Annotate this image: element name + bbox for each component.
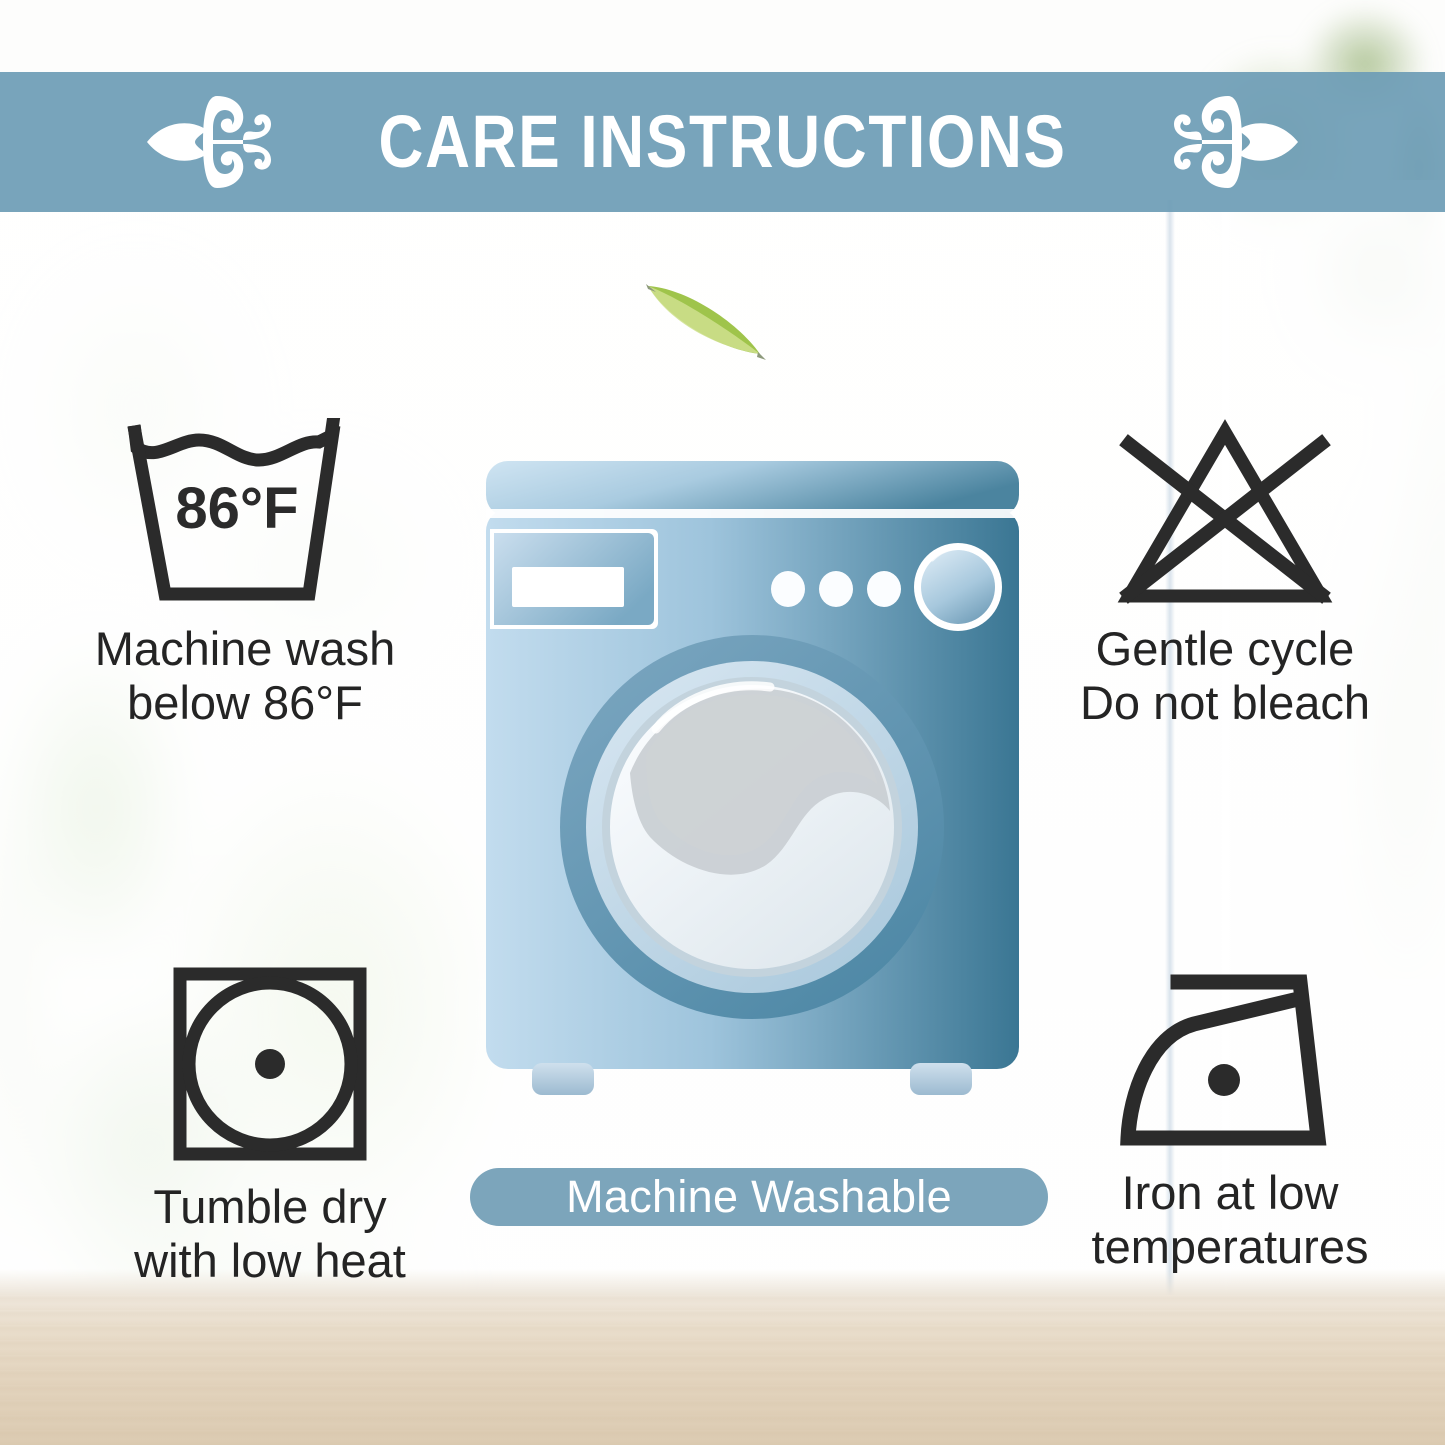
care-icon-machine-wash: 86°F Machine wash below 86°F (30, 418, 460, 729)
floating-leaf-icon (640, 272, 770, 362)
wash-temperature-label: 86°F (175, 476, 298, 541)
iron-icon (1104, 962, 1356, 1152)
control-dial (914, 543, 1002, 631)
wooden-table-surface (0, 1295, 1445, 1445)
care-icon-caption: Iron at low temperatures (1092, 1166, 1369, 1273)
wash-tub-icon: 86°F (119, 418, 371, 608)
care-icon-tumble-dry: Tumble dry with low heat (60, 962, 480, 1287)
care-icon-caption: Machine wash below 86°F (95, 622, 395, 729)
indicator-lights (771, 571, 901, 607)
heat-level-dot (255, 1049, 285, 1079)
care-icon-caption: Tumble dry with low heat (134, 1180, 406, 1287)
fleur-de-lis-icon (145, 88, 273, 196)
page-title: CARE INSTRUCTIONS (378, 105, 1066, 179)
detergent-drawer (490, 529, 658, 629)
fleur-de-lis-icon (1172, 88, 1300, 196)
washer-door (560, 635, 944, 1019)
heat-level-dot (1208, 1064, 1240, 1096)
care-icon-iron: Iron at low temperatures (1020, 962, 1440, 1273)
washing-machine-illustration (480, 455, 1025, 1125)
care-instructions-infographic: CARE INSTRUCTIONS (0, 0, 1445, 1445)
care-icon-caption: Gentle cycle Do not bleach (1080, 622, 1370, 729)
header-banner: CARE INSTRUCTIONS (0, 72, 1445, 212)
machine-washable-label: Machine Washable (566, 1171, 952, 1223)
machine-washable-badge: Machine Washable (470, 1168, 1048, 1226)
care-icon-do-not-bleach: Gentle cycle Do not bleach (1010, 418, 1440, 729)
tumble-dry-square-icon (168, 962, 372, 1166)
crossed-triangle-icon (1099, 418, 1351, 608)
